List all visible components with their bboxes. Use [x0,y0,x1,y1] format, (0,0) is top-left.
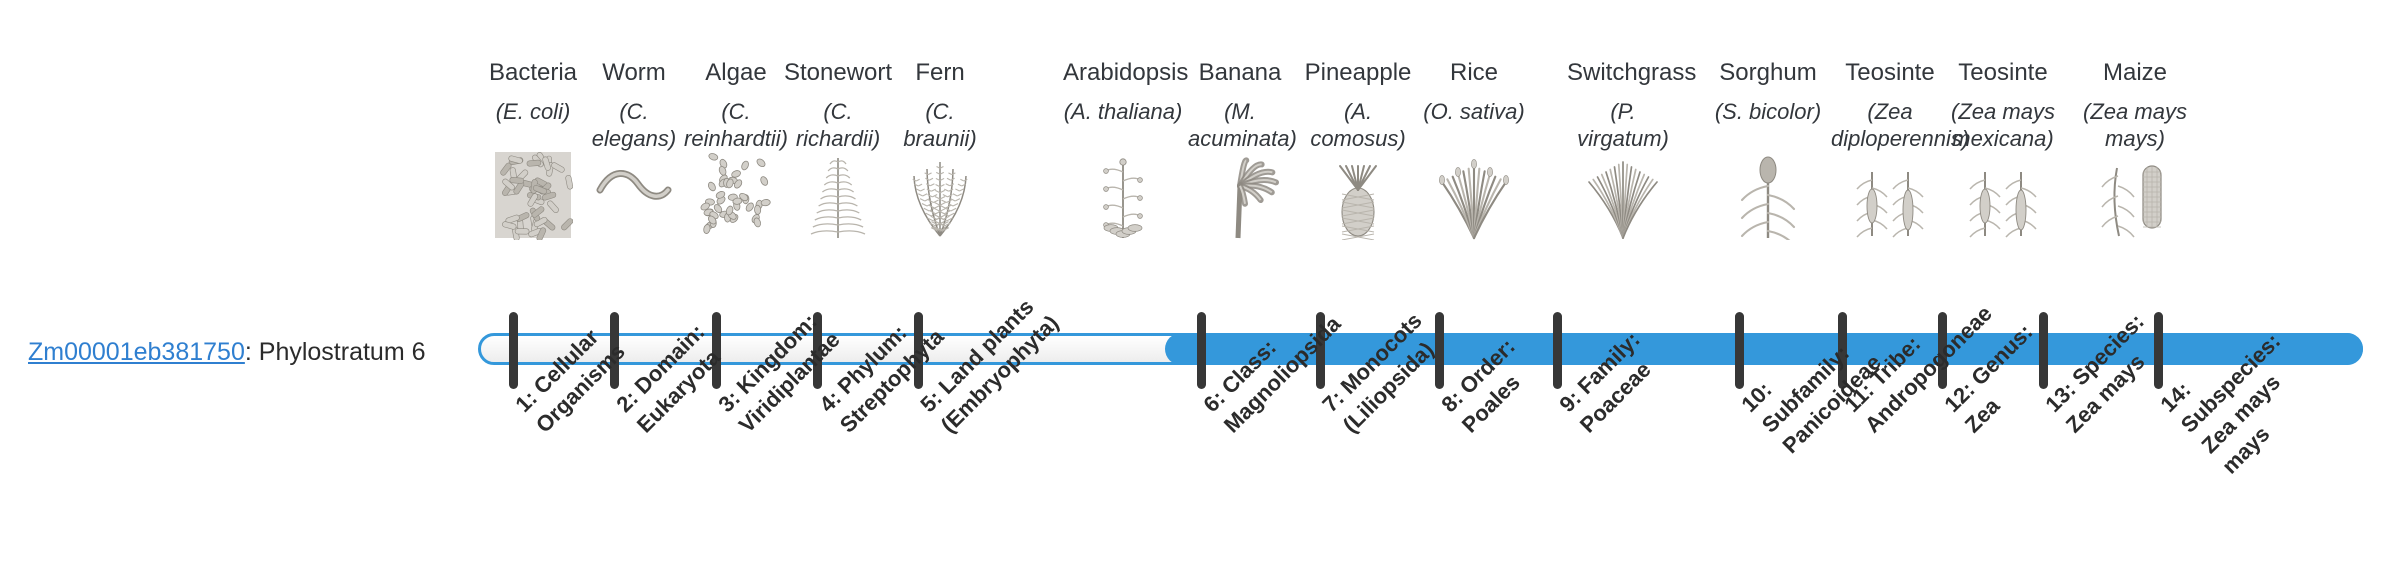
pineapple-icon [1318,150,1398,240]
phylostratigraphy-diagram: Zm00001eb381750: Phylostratum 6 Bacteria… [0,0,2400,580]
switchgrass-icon [1583,150,1663,240]
sorghum-icon [1728,150,1808,240]
species-scientific-name: (C. richardii) [782,99,894,153]
species-scientific-name: (Zea diploperennis) [1831,99,1949,153]
species-scientific-name: (Zea mays mexicana) [1947,99,2059,153]
species-column: Algae(C. reinhardtii) [684,58,788,153]
species-scientific-name: (C. elegans) [582,99,686,153]
species-scientific-name: (S. bicolor) [1713,99,1823,126]
species-common-name: Banana [1188,58,1292,87]
phylostratum-bar-fill[interactable] [1165,333,2363,365]
species-column: Fern(C. braunii) [888,58,992,153]
gene-phylostratum-label: Zm00001eb381750: Phylostratum 6 [28,339,426,367]
species-common-name: Rice [1422,58,1526,87]
worm-icon [594,150,674,240]
phylostratum-label: 9: Family: Poaceae [1553,292,1700,439]
species-common-name: Pineapple [1303,58,1413,87]
species-common-name: Fern [888,58,992,87]
arabidopsis-icon [1083,150,1163,240]
species-column: Maize(Zea mays mays) [2076,58,2194,153]
species-common-name: Worm [582,58,686,87]
species-column: Teosinte(Zea diploperennis) [1831,58,1949,153]
species-column: Pineapple(A. comosus) [1303,58,1413,153]
phylostratum-tick[interactable] [1197,312,1206,389]
rice-icon [1434,150,1514,240]
species-common-name: Arabidopsis [1063,58,1183,87]
phylostratum-tick[interactable] [509,312,518,389]
species-scientific-name: (A. comosus) [1303,99,1413,153]
stonewort-icon [798,150,878,240]
species-scientific-name: (E. coli) [481,99,585,126]
species-column: Rice(O. sativa) [1422,58,1526,126]
species-column: Banana(M. acuminata) [1188,58,1292,153]
teosinte-icon [1850,150,1930,240]
species-column: Bacteria(E. coli) [481,58,585,126]
species-common-name: Teosinte [1831,58,1949,87]
species-common-name: Bacteria [481,58,585,87]
species-common-name: Maize [2076,58,2194,87]
species-scientific-name: (Zea mays mays) [2076,99,2194,153]
species-common-name: Switchgrass [1567,58,1679,87]
species-scientific-name: (P. virgatum) [1567,99,1679,153]
gene-phylostratum-value: Phylostratum 6 [259,338,426,366]
species-common-name: Stonewort [782,58,894,87]
species-column: Worm(C. elegans) [582,58,686,153]
species-column: Switchgrass(P. virgatum) [1567,58,1679,153]
species-common-name: Teosinte [1947,58,2059,87]
banana-icon [1200,150,1280,240]
species-column: Arabidopsis(A. thaliana) [1063,58,1183,126]
species-column: Stonewort(C. richardii) [782,58,894,153]
gene-id-separator: : [245,338,259,366]
species-scientific-name: (C. braunii) [888,99,992,153]
bacteria-icon [493,150,573,240]
species-scientific-name: (C. reinhardtii) [684,99,788,153]
maize-icon [2095,150,2175,240]
species-scientific-name: (M. acuminata) [1188,99,1292,153]
gene-id-link[interactable]: Zm00001eb381750 [28,338,245,366]
teosinte-icon [1963,150,2043,240]
species-scientific-name: (O. sativa) [1422,99,1526,126]
fern-icon [900,150,980,240]
species-scientific-name: (A. thaliana) [1063,99,1183,126]
algae-icon [696,150,776,240]
phylostratum-label: 14: Subspecies: Zea mays mays [2154,292,2342,480]
species-column: Sorghum(S. bicolor) [1713,58,1823,126]
phylostratum-tick[interactable] [1735,312,1744,389]
species-column: Teosinte(Zea mays mexicana) [1947,58,2059,153]
species-common-name: Sorghum [1713,58,1823,87]
species-common-name: Algae [684,58,788,87]
